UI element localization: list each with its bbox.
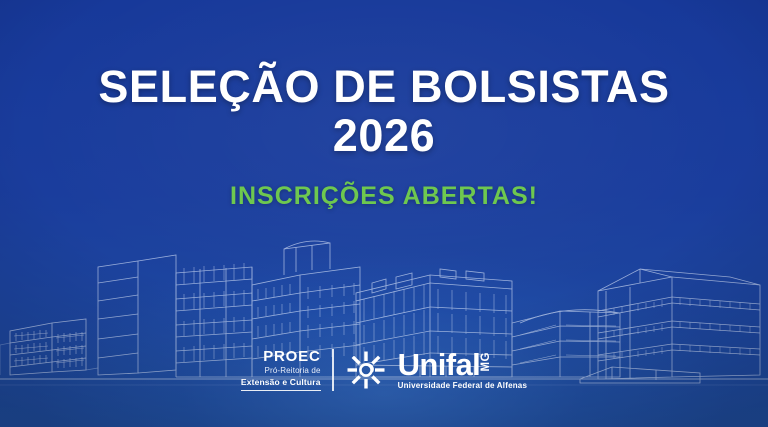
proec-logo: PROEC Pró-Reitoria de Extensão e Cultura xyxy=(241,349,334,391)
banner-title-primary: SELEÇÃO DE BOLSISTAS xyxy=(0,64,768,110)
proec-subtitle-line2: Extensão e Cultura xyxy=(241,377,321,391)
logo-bar: PROEC Pró-Reitoria de Extensão e Cultura xyxy=(0,349,768,391)
banner-title-year: 2026 xyxy=(0,112,768,161)
proec-name: PROEC xyxy=(241,349,321,365)
unifal-wordmark: Unifal xyxy=(398,350,481,379)
unifal-state-mg: MG xyxy=(481,352,493,372)
banner-subtitle: INSCRIÇÕES ABERTAS! xyxy=(0,182,768,211)
unifal-star-icon xyxy=(346,350,386,390)
unifal-tagline: Universidade Federal de Alfenas xyxy=(398,381,528,390)
unifal-logo: Unifal MG Universidade Federal de Alfena… xyxy=(398,350,528,390)
promotional-banner: SELEÇÃO DE BOLSISTAS 2026 INSCRIÇÕES ABE… xyxy=(0,0,768,427)
headline-block: SELEÇÃO DE BOLSISTAS 2026 INSCRIÇÕES ABE… xyxy=(0,64,768,211)
proec-subtitle-line1: Pró-Reitoria de xyxy=(241,366,321,377)
